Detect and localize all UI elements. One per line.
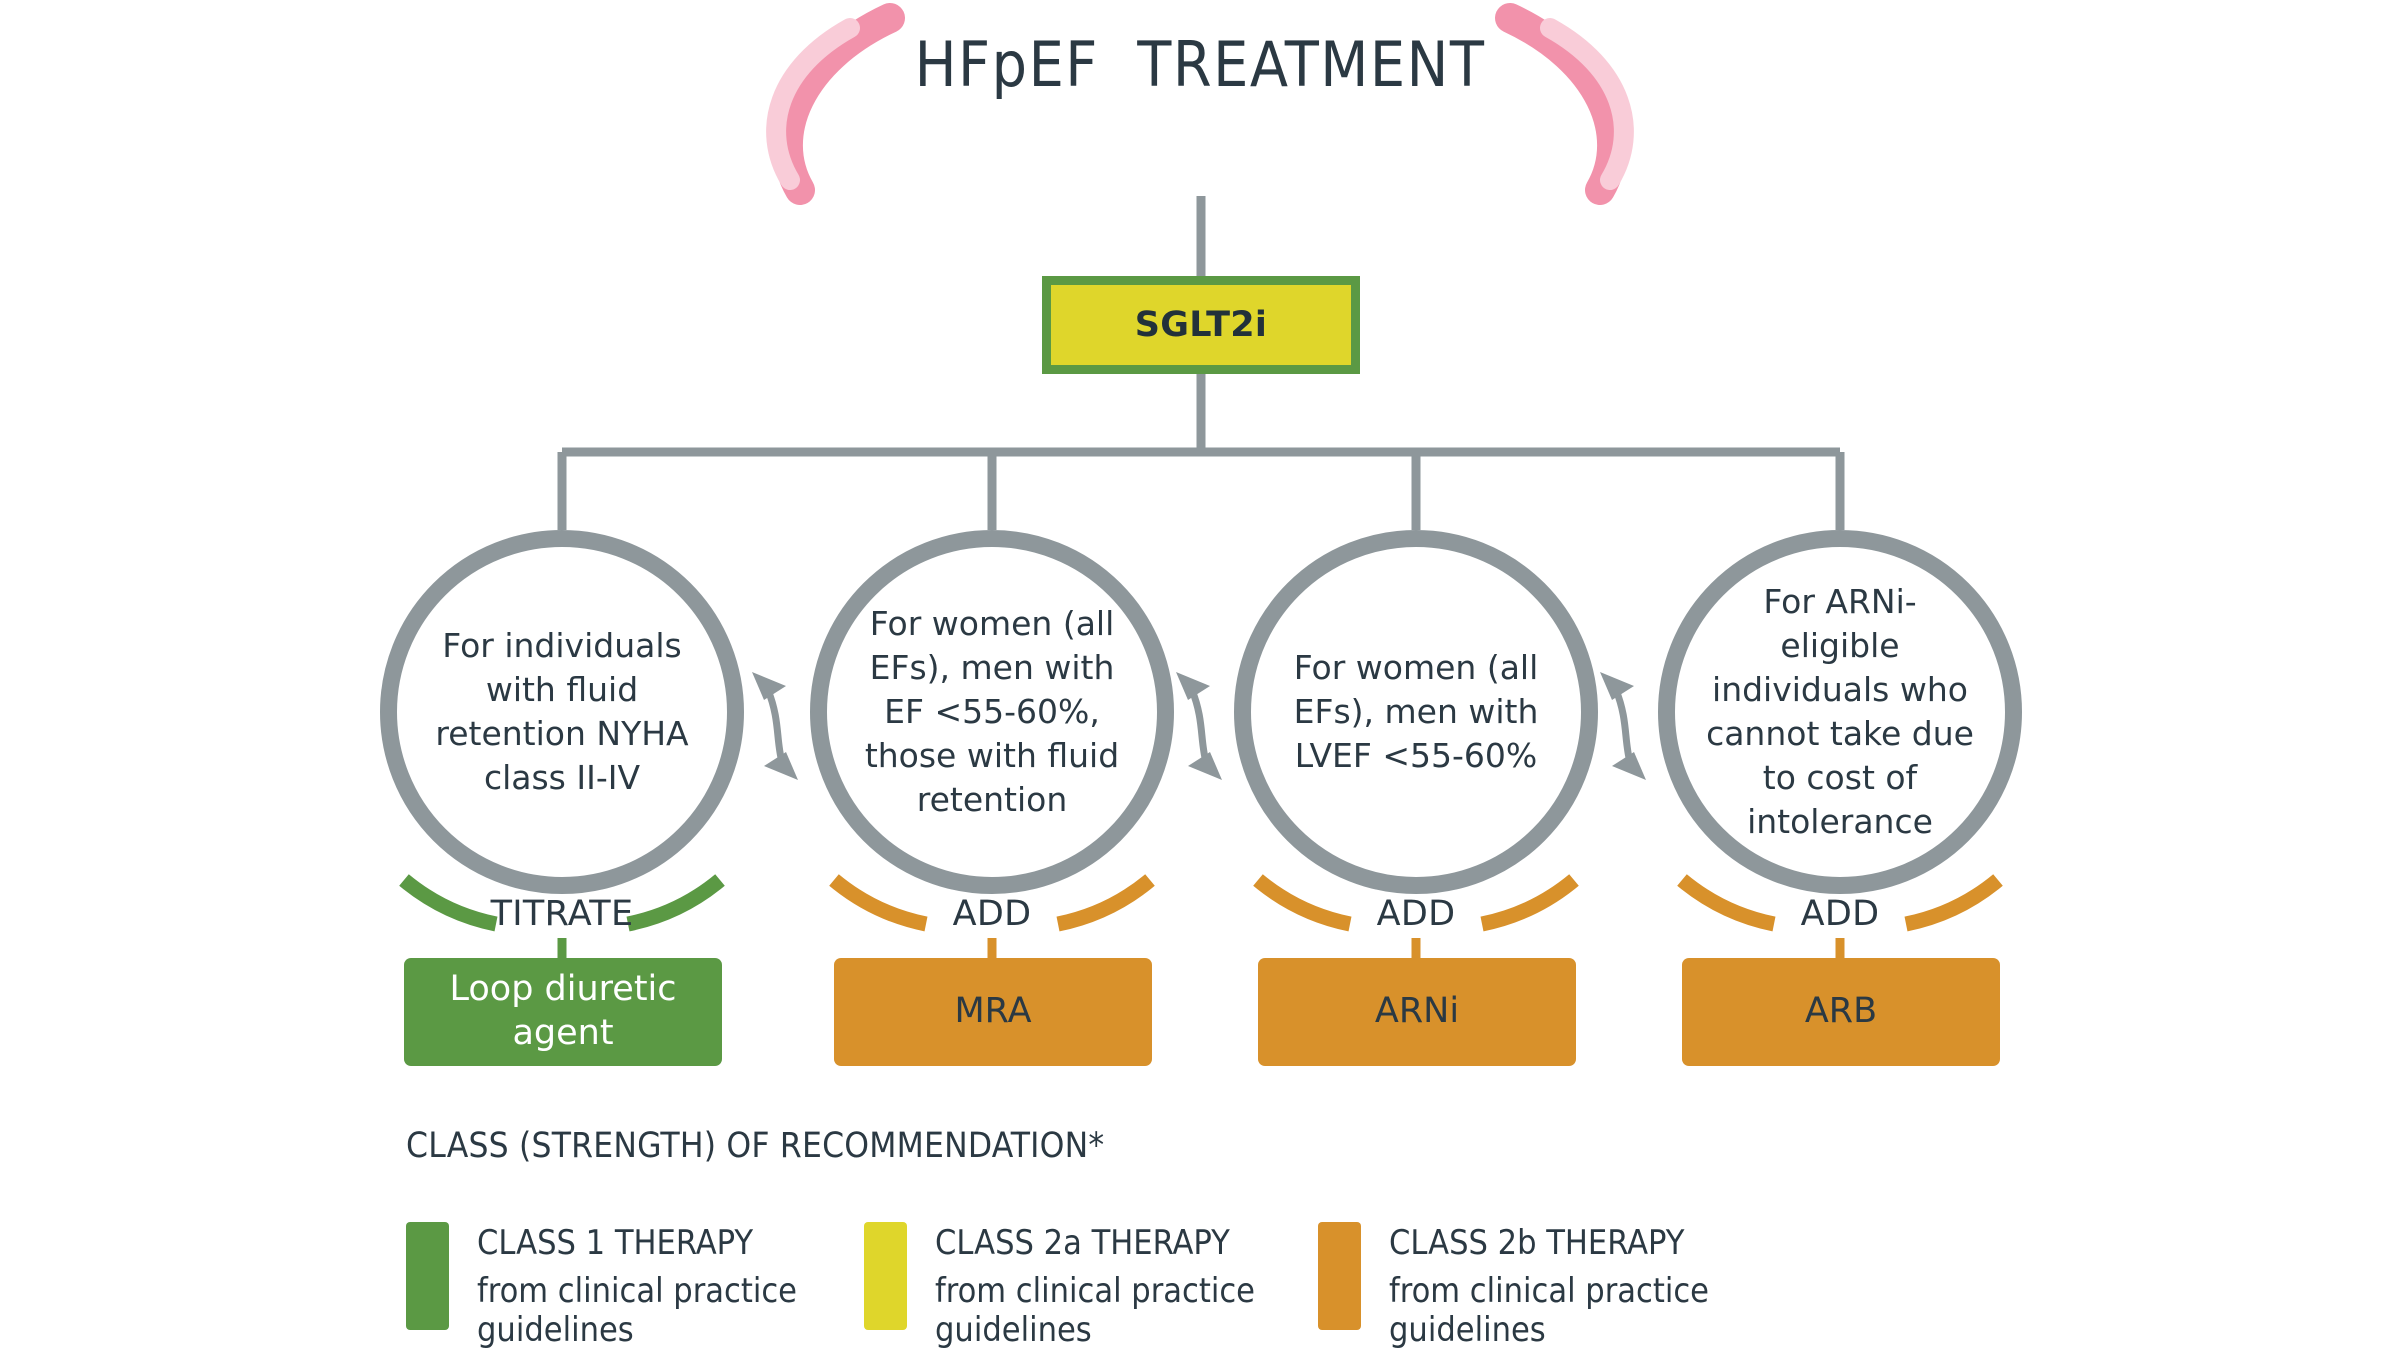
criteria-circle-4[interactable]: For ARNi-eligible individuals who cannot…: [1658, 530, 2022, 894]
action-label-4: ADD: [1690, 894, 1990, 934]
therapy-box-4-label: ARB: [1793, 990, 1889, 1034]
action-label-2: ADD: [842, 894, 1142, 934]
legend-subtitle-class-2b: from clinical practice guidelines: [1389, 1272, 1709, 1350]
legend-texts-class-2a: CLASS 2a THERAPY from clinical practice …: [935, 1222, 1255, 1350]
root-node-sglt2i[interactable]: SGLT2i: [1042, 276, 1360, 374]
legend-heading: CLASS (STRENGTH) OF RECOMMENDATION*: [406, 1126, 1104, 1166]
legend-title-class-2a: CLASS 2a THERAPY: [935, 1224, 1255, 1262]
therapy-box-3-label: ARNi: [1363, 990, 1471, 1034]
root-node-label: SGLT2i: [1135, 305, 1267, 345]
legend-swatch-class-2b: [1318, 1222, 1361, 1330]
legend-item-class-2a: CLASS 2a THERAPY from clinical practice …: [864, 1222, 1255, 1350]
legend-title-class-2b: CLASS 2b THERAPY: [1389, 1224, 1709, 1262]
bidirectional-arrow-icon-1: [752, 672, 798, 780]
legend-item-class-1: CLASS 1 THERAPY from clinical practice g…: [406, 1222, 797, 1350]
criteria-circle-3-text: For women (all EFs), men with LVEF <55-6…: [1280, 646, 1552, 778]
criteria-circle-2[interactable]: For women (all EFs), men with EF <55-60%…: [810, 530, 1174, 894]
legend-swatch-class-1: [406, 1222, 449, 1330]
legend-subtitle-class-2a: from clinical practice guidelines: [935, 1272, 1255, 1350]
criteria-circle-2-text: For women (all EFs), men with EF <55-60%…: [856, 602, 1128, 821]
therapy-box-arni[interactable]: ARNi: [1258, 958, 1576, 1066]
diagram-title-text: HFpEF TREATMENT: [915, 28, 1486, 101]
diagram-title: HFpEF TREATMENT: [0, 28, 2400, 101]
legend-subtitle-class-1: from clinical practice guidelines: [477, 1272, 797, 1350]
criteria-circle-3[interactable]: For women (all EFs), men with LVEF <55-6…: [1234, 530, 1598, 894]
legend-item-class-2b: CLASS 2b THERAPY from clinical practice …: [1318, 1222, 1709, 1350]
bidirectional-arrow-icon-3: [1600, 672, 1646, 780]
therapy-box-loop-diuretic[interactable]: Loop diuretic agent: [404, 958, 722, 1066]
legend-swatch-class-2a: [864, 1222, 907, 1330]
therapy-box-2-label: MRA: [942, 990, 1043, 1034]
criteria-circle-1[interactable]: For individuals with fluid retention NYH…: [380, 530, 744, 894]
action-label-3: ADD: [1266, 894, 1566, 934]
legend-texts-class-1: CLASS 1 THERAPY from clinical practice g…: [477, 1222, 797, 1350]
therapy-box-1-label: Loop diuretic agent: [437, 968, 688, 1056]
legend-texts-class-2b: CLASS 2b THERAPY from clinical practice …: [1389, 1222, 1709, 1350]
diagram-vector-layer: [0, 0, 2400, 1350]
therapy-box-arb[interactable]: ARB: [1682, 958, 2000, 1066]
action-label-1: TITRATE: [412, 894, 712, 934]
legend-title-class-1: CLASS 1 THERAPY: [477, 1224, 797, 1262]
hfpef-treatment-diagram: HFpEF TREATMENT SGLT2i For individuals w…: [0, 0, 2400, 1350]
bidirectional-arrow-icon-2: [1176, 672, 1222, 780]
criteria-circle-1-text: For individuals with fluid retention NYH…: [426, 624, 698, 800]
criteria-circle-4-text: For ARNi-eligible individuals who cannot…: [1704, 580, 1976, 843]
therapy-box-mra[interactable]: MRA: [834, 958, 1152, 1066]
